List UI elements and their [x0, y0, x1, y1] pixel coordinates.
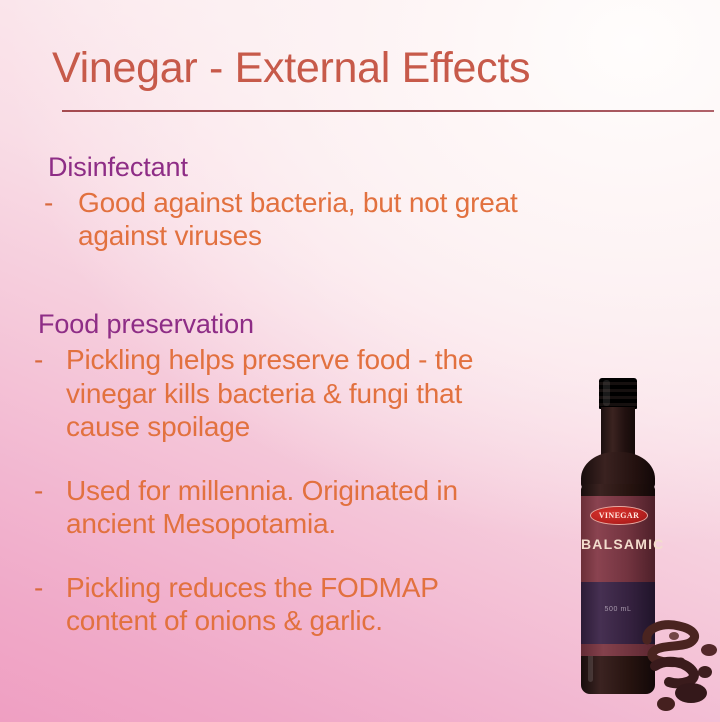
bullet-text: Used for millennia. Originated in ancien…: [66, 474, 536, 541]
section-disinfectant: Disinfectant - Good against bacteria, bu…: [0, 152, 720, 253]
bullet-marker: -: [34, 571, 66, 605]
bullet-marker: -: [34, 474, 66, 508]
bullet-text: Pickling helps preserve food - the vineg…: [66, 343, 536, 444]
product-name-label: BALSAMIC: [581, 536, 655, 552]
bottle-label-upper: VINEGAR BALSAMIC: [581, 496, 655, 582]
title-block: Vinegar - External Effects: [0, 44, 720, 92]
bullet-text: .: [66, 666, 536, 680]
bottle-cap-icon: [599, 378, 637, 409]
bullet-text: Good against bacteria, but not great aga…: [76, 186, 548, 253]
bullet-text: Pickling reduces the FODMAP content of o…: [66, 571, 536, 638]
slide-canvas: Vinegar - External Effects Disinfectant …: [0, 0, 720, 722]
vinegar-drizzle-icon: [641, 614, 720, 714]
section-heading: Food preservation: [0, 309, 720, 341]
bullet-marker: -: [34, 343, 66, 377]
bullet-marker: -: [44, 186, 76, 220]
page-title: Vinegar - External Effects: [0, 44, 720, 92]
badge-label: VINEGAR: [599, 511, 640, 520]
vinegar-bottle-illustration: VINEGAR BALSAMIC 500 mL: [553, 378, 720, 722]
title-divider: [62, 110, 714, 112]
volume-label: 500 mL: [581, 606, 655, 613]
bullet-marker: -: [34, 666, 66, 680]
section-heading: Disinfectant: [0, 152, 720, 184]
list-item: - Good against bacteria, but not great a…: [0, 186, 720, 253]
vinegar-badge-icon: VINEGAR: [590, 506, 648, 525]
